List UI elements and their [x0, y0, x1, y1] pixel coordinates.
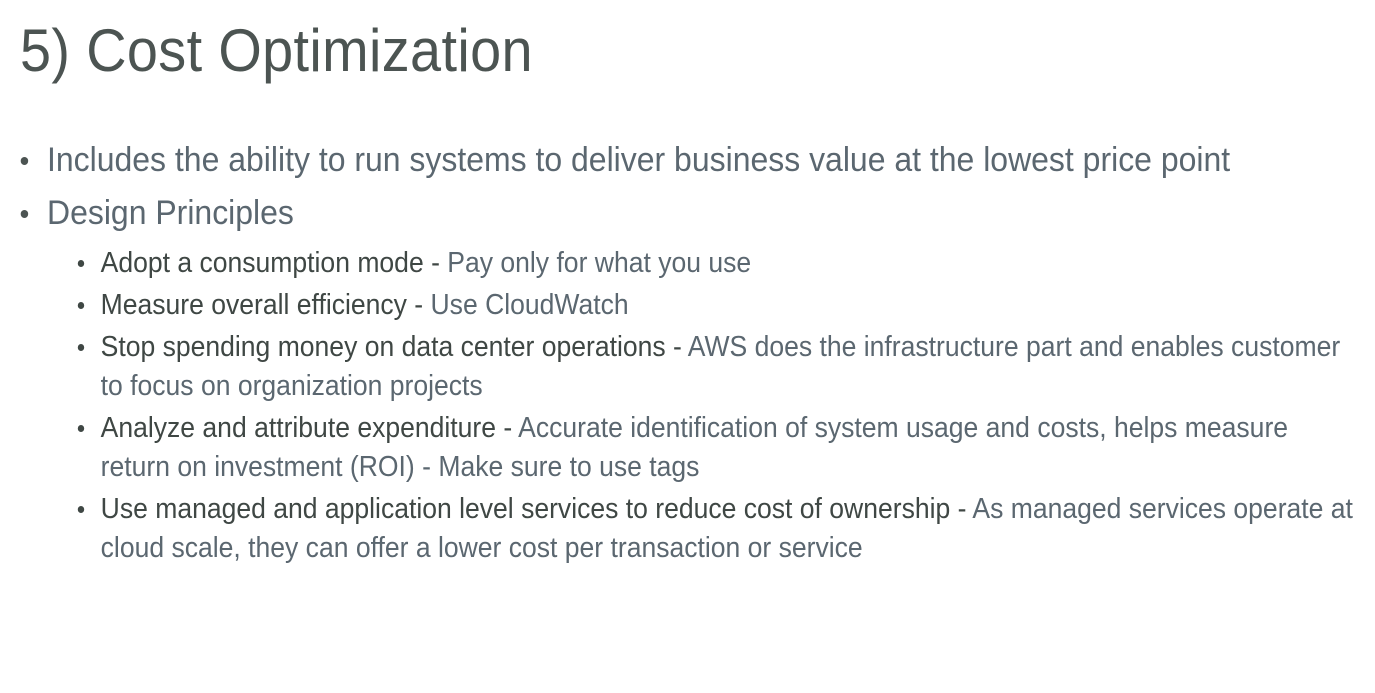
principle-separator: - — [424, 247, 448, 279]
bullet-dot-icon — [78, 302, 84, 309]
principle-description: Use CloudWatch — [431, 289, 629, 321]
presentation-slide: 5) Cost Optimization Includes the abilit… — [0, 0, 1375, 693]
principle-separator: - — [407, 289, 431, 321]
principle-separator: - — [666, 331, 688, 363]
bullet-level1-label: Design Principles — [47, 194, 294, 232]
bullet-dot-icon — [78, 425, 84, 432]
principle-term: Analyze and attribute expenditure — [101, 412, 496, 444]
bullet-level1-label: Includes the ability to run systems to d… — [47, 141, 1230, 179]
list-item: Adopt a consumption mode - Pay only for … — [0, 244, 1354, 283]
principle-separator: - — [496, 412, 518, 444]
bullet-dot-icon — [21, 157, 29, 165]
list-item: Analyze and attribute expenditure - Accu… — [0, 409, 1354, 487]
bullet-dot-icon — [78, 260, 84, 267]
list-item: Stop spending money on data center opera… — [0, 328, 1354, 406]
bullet-dot-icon — [21, 210, 29, 218]
bullet-level1: Includes the ability to run systems to d… — [0, 138, 1335, 183]
principle-term: Stop spending money on data center opera… — [101, 331, 666, 363]
design-principles-list: Adopt a consumption mode - Pay only for … — [0, 244, 1375, 568]
list-item: Measure overall efficiency - Use CloudWa… — [0, 286, 1354, 325]
principle-term: Use managed and application level servic… — [101, 493, 951, 525]
principle-separator: - — [950, 493, 972, 525]
principle-term: Measure overall efficiency — [101, 289, 407, 321]
slide-body: Includes the ability to run systems to d… — [0, 138, 1375, 571]
principle-description: Pay only for what you use — [447, 247, 751, 279]
principle-term: Adopt a consumption mode — [101, 247, 424, 279]
bullet-dot-icon — [78, 506, 84, 513]
list-item: Use managed and application level servic… — [0, 490, 1354, 568]
bullet-dot-icon — [78, 344, 84, 351]
bullet-level1: Design Principles — [0, 191, 1335, 236]
page-title: 5) Cost Optimization — [20, 14, 1229, 88]
